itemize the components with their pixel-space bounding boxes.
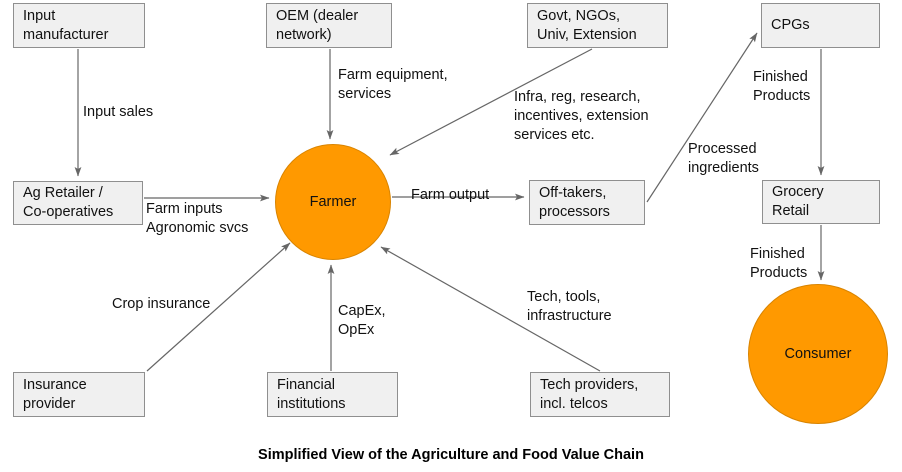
node-financial-institutions[interactable]: Financial institutions xyxy=(267,372,398,417)
node-consumer[interactable]: Consumer xyxy=(748,284,888,424)
edge-label-farm-equipment-services: Farm equipment, services xyxy=(338,66,448,104)
edge-label-tech-tools-infrastructure: Tech, tools, infrastructure xyxy=(527,288,612,326)
node-label: OEM (dealer network) xyxy=(276,7,358,45)
node-label: Financial institutions xyxy=(277,376,346,414)
edge-label-input-sales: Input sales xyxy=(83,103,153,122)
node-cpgs[interactable]: CPGs xyxy=(761,3,880,48)
node-label: Govt, NGOs, Univ, Extension xyxy=(537,7,637,45)
node-grocery-retail[interactable]: Grocery Retail xyxy=(762,180,880,224)
node-label: CPGs xyxy=(771,16,810,35)
node-ag-retailer-cooperatives[interactable]: Ag Retailer / Co-operatives xyxy=(13,181,143,225)
edge-label-finished-products-cpgs-to-grocery: Finished Products xyxy=(753,68,810,106)
node-insurance-provider[interactable]: Insurance provider xyxy=(13,372,145,417)
diagram-canvas: Input manufacturer OEM (dealer network) … xyxy=(0,0,902,472)
node-label: Grocery Retail xyxy=(772,183,824,221)
node-input-manufacturer[interactable]: Input manufacturer xyxy=(13,3,145,48)
node-label: Insurance provider xyxy=(23,376,87,414)
node-farmer[interactable]: Farmer xyxy=(275,144,391,260)
edge-label-farm-inputs-agronomic-svcs: Farm inputs Agronomic svcs xyxy=(146,200,248,238)
node-off-takers-processors[interactable]: Off-takers, processors xyxy=(529,180,645,225)
node-label: Off-takers, processors xyxy=(539,184,610,222)
node-tech-providers-telcos[interactable]: Tech providers, incl. telcos xyxy=(530,372,670,417)
node-label: Farmer xyxy=(310,193,357,212)
node-govt-ngos-univ-extension[interactable]: Govt, NGOs, Univ, Extension xyxy=(527,3,668,48)
node-label: Ag Retailer / Co-operatives xyxy=(23,184,113,222)
edge-label-processed-ingredients: Processed ingredients xyxy=(688,140,759,178)
edge-label-capex-opex: CapEx, OpEx xyxy=(338,302,386,340)
edge-label-infra-reg-research: Infra, reg, research, incentives, extens… xyxy=(514,88,649,145)
node-label: Tech providers, incl. telcos xyxy=(540,376,638,414)
edge-label-crop-insurance: Crop insurance xyxy=(112,295,210,314)
edge-label-farm-output: Farm output xyxy=(411,186,489,205)
edge-label-finished-products-grocery-to-consumer: Finished Products xyxy=(750,245,807,283)
node-label: Consumer xyxy=(785,345,852,364)
node-label: Input manufacturer xyxy=(23,7,108,45)
diagram-caption: Simplified View of the Agriculture and F… xyxy=(0,447,902,463)
node-oem-dealer-network[interactable]: OEM (dealer network) xyxy=(266,3,392,48)
